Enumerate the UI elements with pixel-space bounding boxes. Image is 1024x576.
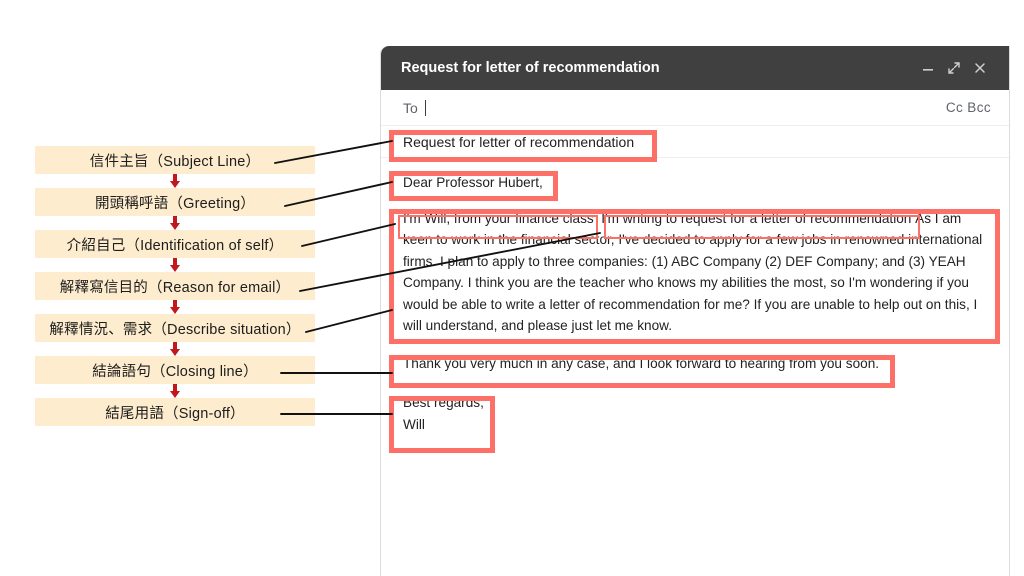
situation-text: As I am keen to work in the financial se… [403,211,982,334]
minimize-icon[interactable] [915,55,941,81]
email-structure-flowchart: 信件主旨（Subject Line） 開頭稱呼語（Greeting） 介紹自己（… [35,146,315,426]
flow-step-label: 解釋情況、需求（Describe situation） [49,318,300,339]
compose-body[interactable]: Dear Professor Hubert, I'm Will, from yo… [381,158,1009,435]
signoff-line-1: Best regards, [403,395,484,410]
signoff-line-2: Will [403,414,987,436]
flow-step-label: 結尾用語（Sign-off） [105,402,245,423]
flow-arrow-icon [35,300,315,314]
flow-step-label: 開頭稱呼語（Greeting） [95,192,255,213]
greeting-text: Dear Professor Hubert, [403,175,543,190]
compose-window-header: Request for letter of recommendation [381,46,1009,90]
cc-bcc-toggle[interactable]: Cc Bcc [946,100,991,115]
to-label: To [403,100,418,116]
body-closing-line: Thank you very much in any case, and I l… [403,353,987,375]
to-input-caret [425,100,426,116]
flow-step-label: 結論語句（Closing line） [92,360,258,381]
body-main-paragraph: I'm Will, from your finance class I'm wr… [403,208,987,337]
reason-text: I'm writing to request for a letter of r… [601,211,911,226]
identification-text: I'm Will, from your finance class [403,211,594,226]
flow-arrow-icon [35,216,315,230]
body-greeting: Dear Professor Hubert, [403,172,987,194]
screenshot-root: 信件主旨（Subject Line） 開頭稱呼語（Greeting） 介紹自己（… [0,0,1024,576]
flow-step-subject-line: 信件主旨（Subject Line） [35,146,315,174]
flow-step-identification-of-self: 介紹自己（Identification of self） [35,230,315,258]
subject-field-row[interactable]: Request for letter of recommendation [381,126,1009,158]
flow-arrow-icon [35,174,315,188]
compose-window-title: Request for letter of recommendation [401,60,915,76]
flow-arrow-icon [35,342,315,356]
body-sign-off: Best regards, Will [403,392,987,435]
flow-step-greeting: 開頭稱呼語（Greeting） [35,188,315,216]
flow-arrow-icon [35,258,315,272]
flow-step-describe-situation: 解釋情況、需求（Describe situation） [35,314,315,342]
flow-step-sign-off: 結尾用語（Sign-off） [35,398,315,426]
expand-icon[interactable] [941,55,967,81]
flow-step-label: 信件主旨（Subject Line） [90,150,260,171]
flow-step-closing-line: 結論語句（Closing line） [35,356,315,384]
to-field-row[interactable]: To Cc Bcc [381,90,1009,126]
flow-step-label: 介紹自己（Identification of self） [67,234,284,255]
flow-step-reason-for-email: 解釋寫信目的（Reason for email） [35,272,315,300]
subject-value: Request for letter of recommendation [403,134,634,150]
close-icon[interactable] [967,55,993,81]
closing-text: Thank you very much in any case, and I l… [403,356,879,371]
flow-step-label: 解釋寫信目的（Reason for email） [60,276,290,297]
flow-arrow-icon [35,384,315,398]
gmail-compose-window: Request for letter of recommendation To … [380,46,1010,576]
